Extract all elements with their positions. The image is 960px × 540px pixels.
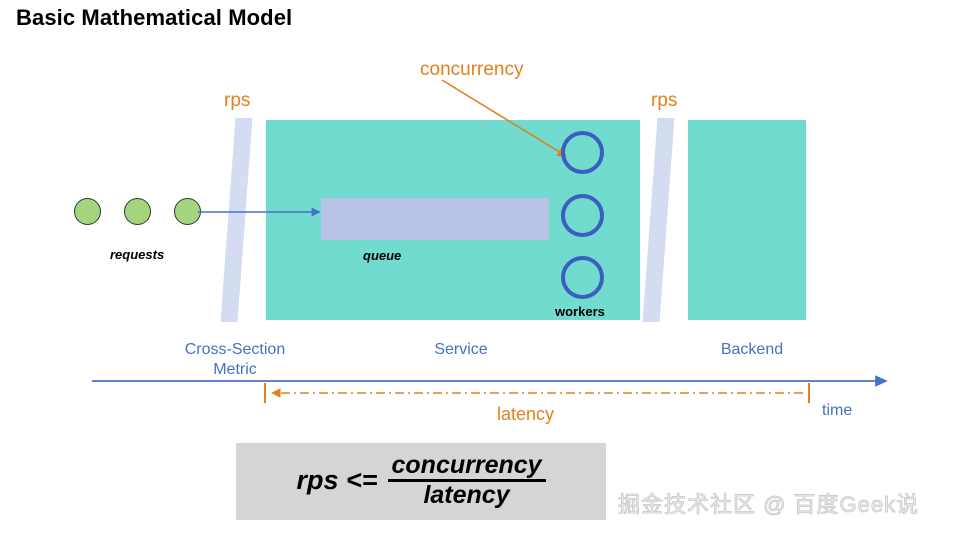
worker-circle: [561, 194, 604, 237]
time-label: time: [822, 402, 852, 420]
request-circle: [174, 198, 201, 225]
caption-service: Service: [381, 340, 541, 360]
queue-rect: [321, 198, 549, 240]
formula-fraction: concurrency latency: [388, 452, 546, 509]
workers-label: workers: [555, 304, 605, 319]
formula-numerator: concurrency: [388, 452, 546, 479]
rps-label-left: rps: [224, 90, 250, 112]
worker-circle: [561, 131, 604, 174]
rps-label-right: rps: [651, 90, 677, 112]
worker-circle: [561, 256, 604, 299]
requests-label: requests: [110, 247, 164, 262]
latency-label: latency: [497, 404, 554, 425]
formula-left-hand-side: rps <=: [296, 465, 377, 496]
request-circle: [124, 198, 151, 225]
formula-denominator: latency: [419, 482, 513, 509]
backend-box: [688, 120, 806, 320]
cross-section-bar-right: [643, 118, 675, 322]
request-intake-arrow-icon: [198, 200, 328, 224]
request-circle: [74, 198, 101, 225]
watermark-text: 掘金技术社区 @ 百度Geek说: [618, 487, 919, 519]
formula-box: rps <= concurrency latency: [236, 443, 606, 520]
page-title: Basic Mathematical Model: [16, 5, 292, 31]
slide-canvas: Basic Mathematical Model rps rps concurr…: [0, 0, 960, 540]
queue-label: queue: [363, 248, 401, 263]
formula-expression: rps <= concurrency latency: [296, 452, 545, 509]
concurrency-arrow-icon: [440, 78, 580, 168]
caption-backend: Backend: [667, 340, 837, 360]
